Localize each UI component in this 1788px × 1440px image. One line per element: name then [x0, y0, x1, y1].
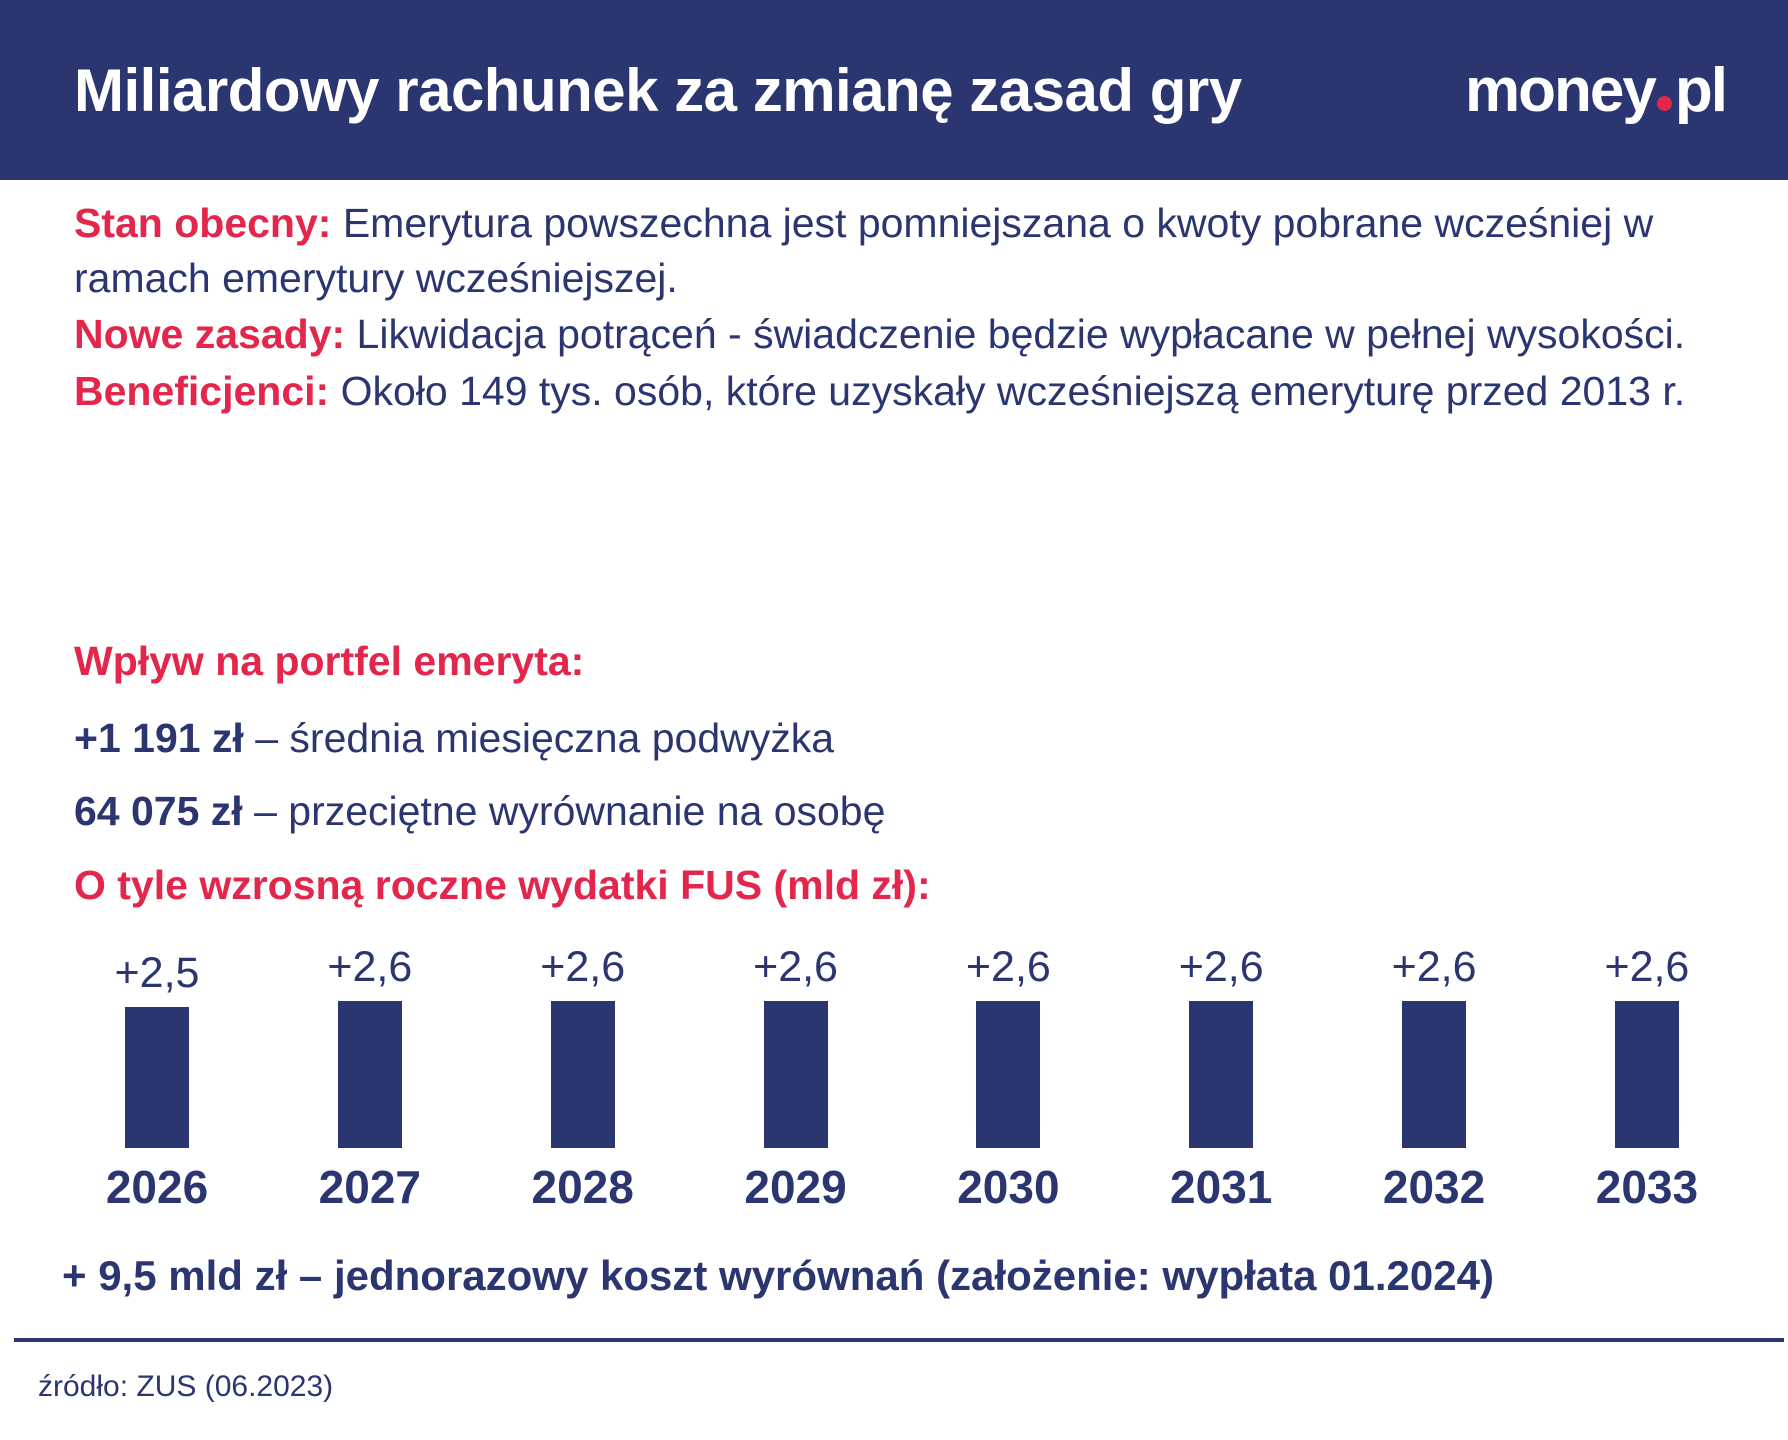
bar-rect [764, 1001, 828, 1148]
impact-desc-monthly: – średnia miesięczna podwyżka [244, 715, 834, 761]
paragraph-label-current-state: Stan obecny: [74, 200, 331, 246]
impact-line-monthly: +1 191 zł – średnia miesięczna podwyżka [74, 715, 1724, 762]
bar-column: +2,62029 [701, 930, 891, 1210]
bar-year-label: 2030 [957, 1164, 1059, 1210]
logo-tld: pl [1675, 55, 1726, 126]
bar-year-label: 2027 [319, 1164, 421, 1210]
bar-value-label: +2,6 [1392, 946, 1477, 989]
impact-amount-monthly: +1 191 zł [74, 715, 244, 761]
paragraph-text-beneficiaries: Około 149 tys. osób, które uzyskały wcze… [329, 368, 1685, 414]
impact-heading: Wpływ na portfel emeryta: [74, 638, 1724, 685]
chart-title: O tyle wzrosną roczne wydatki FUS (mld z… [74, 862, 931, 909]
bar-year-label: 2031 [1170, 1164, 1272, 1210]
bar-rect [1615, 1001, 1679, 1148]
one-off-cost-note: + 9,5 mld zł – jednorazowy koszt wyrówna… [62, 1252, 1494, 1300]
bar-value-label: +2,6 [966, 946, 1051, 989]
bar-column: +2,62027 [275, 930, 465, 1210]
bar-rect [1189, 1001, 1253, 1148]
money-pl-logo: moneypl [1465, 55, 1726, 126]
impact-line-lumpsum: 64 075 zł – przeciętne wyrównanie na oso… [74, 788, 1724, 835]
bar-column: +2,62031 [1126, 930, 1316, 1210]
summary-text-block: Stan obecny: Emerytura powszechna jest p… [74, 196, 1724, 420]
logo-wordmark: money [1465, 55, 1655, 126]
source-note: źródło: ZUS (06.2023) [38, 1370, 333, 1404]
paragraph-label-beneficiaries: Beneficjenci: [74, 368, 329, 414]
logo-dot-icon [1657, 96, 1672, 111]
bar-value-label: +2,5 [115, 952, 200, 995]
bar-column: +2,62030 [913, 930, 1103, 1210]
impact-block: Wpływ na portfel emeryta: +1 191 zł – śr… [74, 638, 1724, 861]
impact-desc-lumpsum: – przeciętne wyrównanie na osobę [243, 788, 886, 834]
bar-rect [338, 1001, 402, 1148]
bar-column: +2,62028 [488, 930, 678, 1210]
bar-value-label: +2,6 [540, 946, 625, 989]
paragraph-text-new-rules: Likwidacja potrąceń - świadczenie będzie… [345, 311, 1685, 357]
bar-value-label: +2,6 [1179, 946, 1264, 989]
bar-year-label: 2026 [106, 1164, 208, 1210]
bar-value-label: +2,6 [327, 946, 412, 989]
bar-value-label: +2,6 [753, 946, 838, 989]
bar-rect [976, 1001, 1040, 1148]
bar-year-label: 2033 [1596, 1164, 1698, 1210]
bar-year-label: 2028 [532, 1164, 634, 1210]
bar-rect [125, 1007, 189, 1148]
bar-column: +2,62033 [1552, 930, 1742, 1210]
paragraph-label-new-rules: Nowe zasady: [74, 311, 345, 357]
bar-value-label: +2,6 [1604, 946, 1689, 989]
infographic-root: Miliardowy rachunek za zmianę zasad gry … [0, 0, 1788, 1440]
bar-rect [1402, 1001, 1466, 1148]
paragraph-new-rules: Nowe zasady: Likwidacja potrąceń - świad… [74, 307, 1724, 362]
bar-column: +2,62032 [1339, 930, 1529, 1210]
paragraph-current-state: Stan obecny: Emerytura powszechna jest p… [74, 196, 1724, 305]
header-bar: Miliardowy rachunek za zmianę zasad gry … [0, 0, 1788, 180]
page-title: Miliardowy rachunek za zmianę zasad gry [74, 59, 1242, 122]
bar-year-label: 2032 [1383, 1164, 1485, 1210]
bar-rect [551, 1001, 615, 1148]
impact-amount-lumpsum: 64 075 zł [74, 788, 243, 834]
footer-divider [14, 1338, 1784, 1342]
bar-chart: +2,52026+2,62027+2,62028+2,62029+2,62030… [62, 930, 1742, 1210]
bar-column: +2,52026 [62, 930, 252, 1210]
paragraph-beneficiaries: Beneficjenci: Około 149 tys. osób, które… [74, 364, 1724, 419]
bar-year-label: 2029 [744, 1164, 846, 1210]
